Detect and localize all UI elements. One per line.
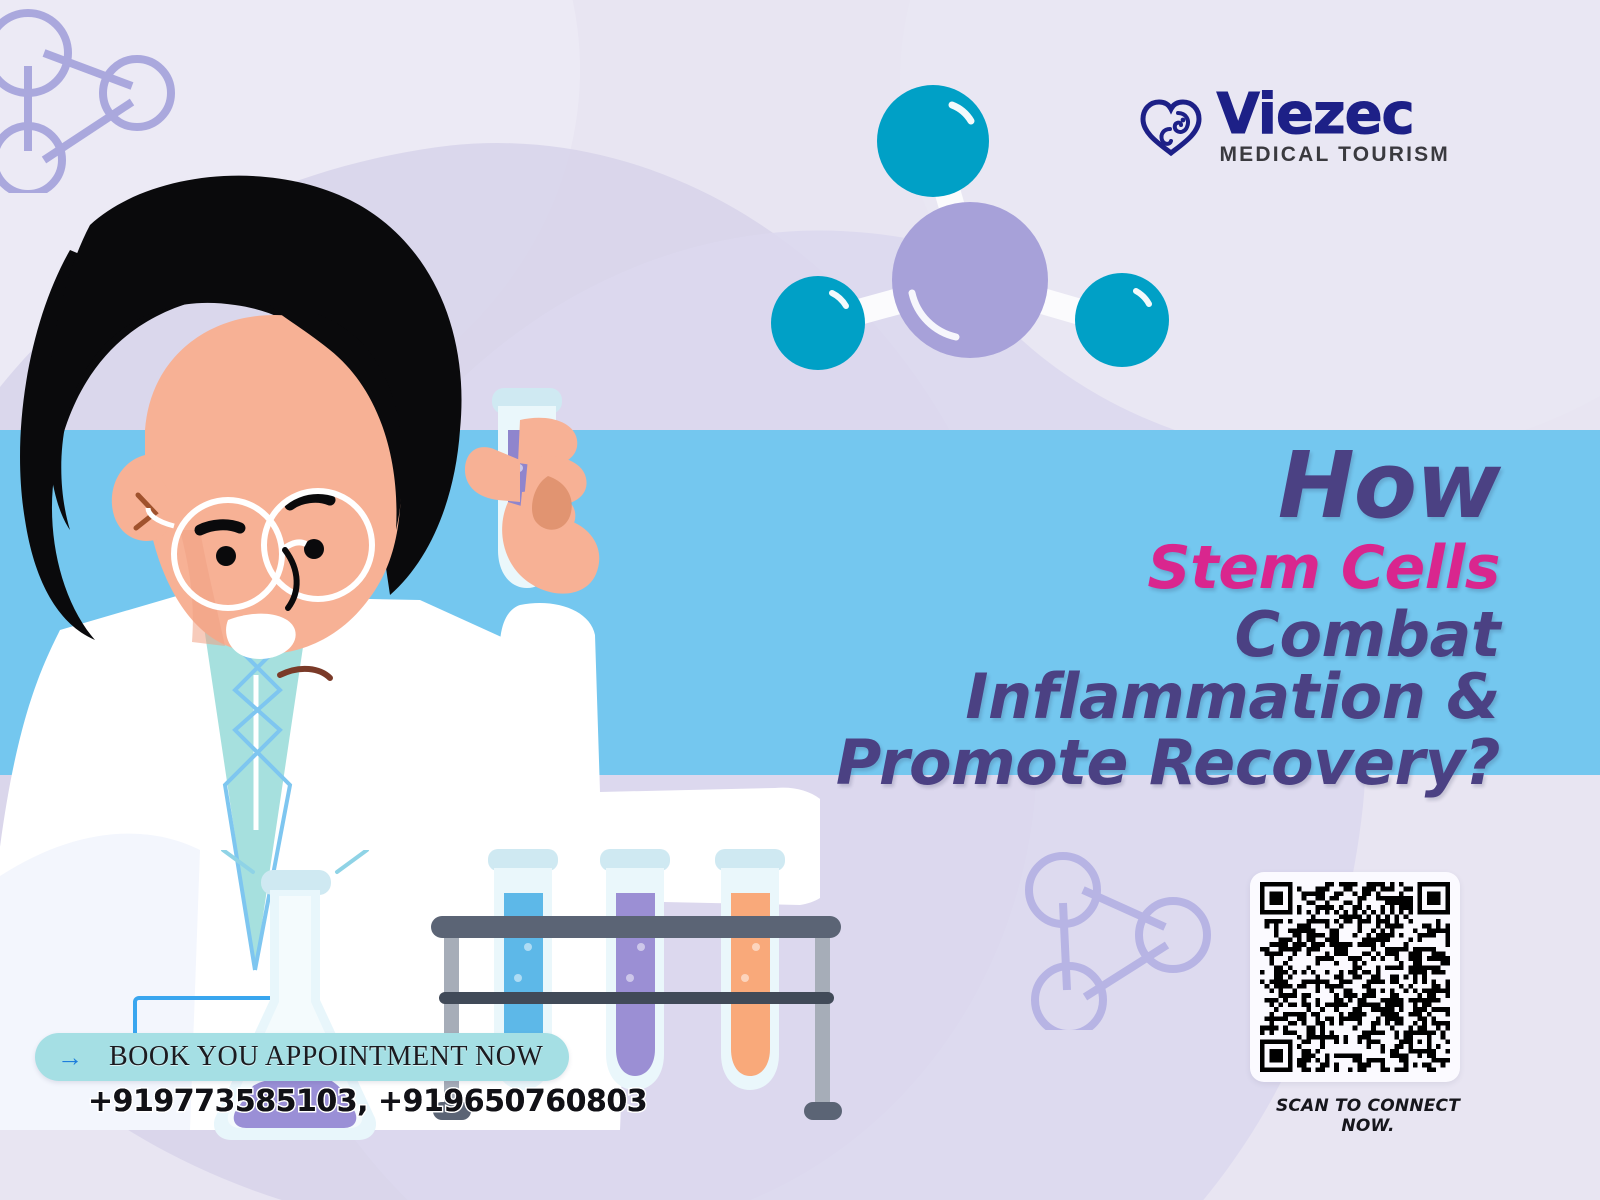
rack-tube-purple <box>600 849 670 1090</box>
eye-left <box>216 546 236 566</box>
book-appointment-label: BOOK YOU APPOINTMENT NOW <box>109 1041 543 1073</box>
flask-vapor <box>223 850 367 872</box>
headline-line-3: Combat Inflammation & <box>780 604 1500 728</box>
headline-block: How Stem Cells Combat Inflammation & Pro… <box>780 440 1500 794</box>
poster-canvas: Viezec MEDICAL TOURISM How Stem Cells Co… <box>0 0 1600 1200</box>
molecule-center-sphere <box>892 202 1048 358</box>
qr-code-card[interactable] <box>1250 872 1460 1082</box>
headline-line-1: How <box>780 440 1500 532</box>
phone-numbers: +919773585103, +919650760803 <box>88 1084 647 1119</box>
hand-holding-tube <box>465 418 599 594</box>
molecule-outline-mid-right <box>1025 845 1215 1030</box>
book-appointment-button[interactable]: → BOOK YOU APPOINTMENT NOW <box>35 1033 569 1081</box>
arrow-right-icon: → <box>57 1044 83 1070</box>
headline-line-2: Stem Cells <box>780 538 1500 598</box>
headline-line-4: Promote Recovery? <box>780 732 1500 794</box>
brand-logo: Viezec MEDICAL TOURISM <box>1140 88 1450 167</box>
qr-code-image[interactable] <box>1260 882 1450 1072</box>
qr-caption: SCAN TO CONNECT NOW. <box>1258 1096 1478 1136</box>
molecule-outer-sphere-right <box>1075 273 1169 367</box>
molecule-outer-sphere-top <box>877 85 989 197</box>
rack-tube-orange <box>715 849 785 1090</box>
heart-embryo-icon <box>1140 99 1202 157</box>
molecule-3d-illustration <box>770 45 1170 395</box>
logo-tagline: MEDICAL TOURISM <box>1219 143 1450 167</box>
logo-wordmark: Viezec <box>1216 88 1413 141</box>
